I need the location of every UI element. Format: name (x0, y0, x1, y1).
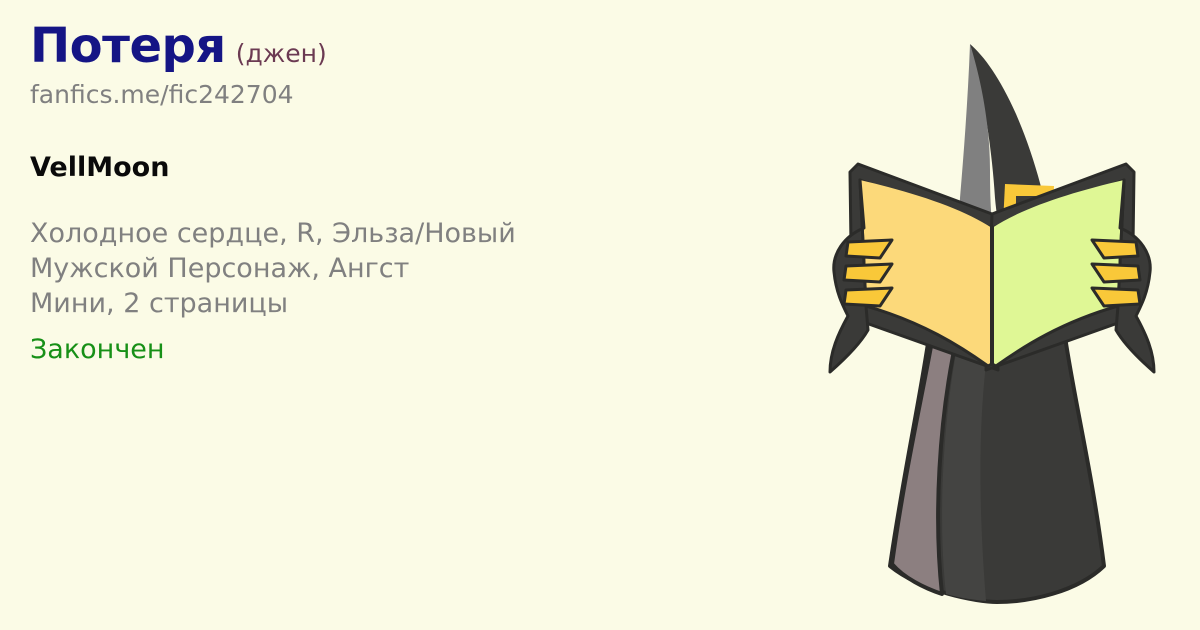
fanfic-title: Потеря (30, 18, 226, 74)
status-badge: Закончен (30, 332, 790, 367)
fandom-tags-line-2: Мужской Персонаж, Ангст (30, 251, 790, 286)
size-line: Мини, 2 страницы (30, 286, 790, 321)
page-title: Потеря(джен) (30, 22, 790, 70)
text-column: Потеря(джен) fanfics.me/fic242704 VellMo… (30, 22, 790, 368)
fanfic-genre-label: (джен) (236, 39, 327, 68)
fandom-tags-line-1: Холодное сердце, R, Эльза/Новый (30, 216, 790, 251)
metadata-block: Холодное сердце, R, Эльза/Новый Мужской … (30, 216, 790, 367)
wizard-reading-book-illustration (792, 0, 1192, 630)
fanfic-preview-card: Потеря(джен) fanfics.me/fic242704 VellMo… (0, 0, 1200, 630)
author-name: VellMoon (30, 153, 790, 183)
fanfic-url[interactable]: fanfics.me/fic242704 (30, 81, 790, 109)
